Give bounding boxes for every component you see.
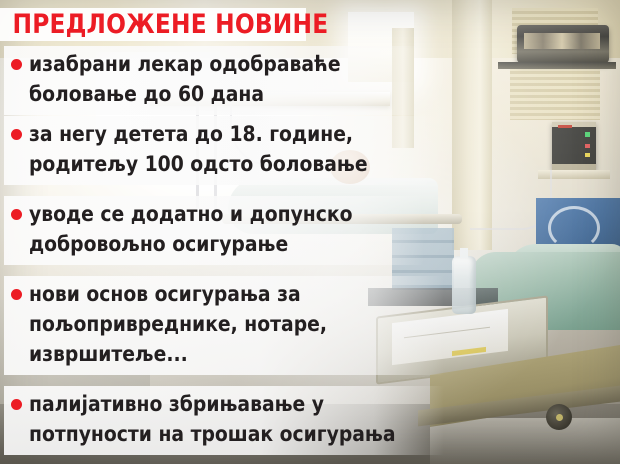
bullet-dot-icon bbox=[11, 59, 22, 70]
list-item-text: палијативно збрињавање у потпуности на т… bbox=[29, 390, 405, 450]
list-item: уводе се додатно и допунско добровољно о… bbox=[4, 196, 424, 265]
bullet-dot-icon bbox=[11, 209, 22, 220]
list-item-text: уводе се додатно и допунско добровољно о… bbox=[29, 200, 362, 260]
list-item: палијативно збрињавање у потпуности на т… bbox=[4, 386, 444, 455]
bullet-dot-icon bbox=[11, 399, 22, 410]
bullet-dot-icon bbox=[11, 289, 22, 300]
bullet-list: изабрани лекар одобраваће боловање до 60… bbox=[0, 0, 620, 464]
list-item: изабрани лекар одобраваће боловање до 60… bbox=[4, 46, 424, 115]
list-item: нови основ осигурања за пољопривреднике,… bbox=[4, 276, 444, 375]
bullet-dot-icon bbox=[11, 129, 22, 140]
list-item-text: за негу детета до 18. године, родитељу 1… bbox=[29, 120, 377, 180]
list-item-text: нови основ осигурања за пољопривреднике,… bbox=[29, 280, 337, 370]
infographic-root: ПРЕДЛОЖЕНЕ НОВИНЕ изабрани лекар одобрав… bbox=[0, 0, 620, 464]
list-item-text: изабрани лекар одобраваће боловање до 60… bbox=[29, 50, 350, 110]
list-item: за негу детета до 18. године, родитељу 1… bbox=[4, 116, 434, 185]
